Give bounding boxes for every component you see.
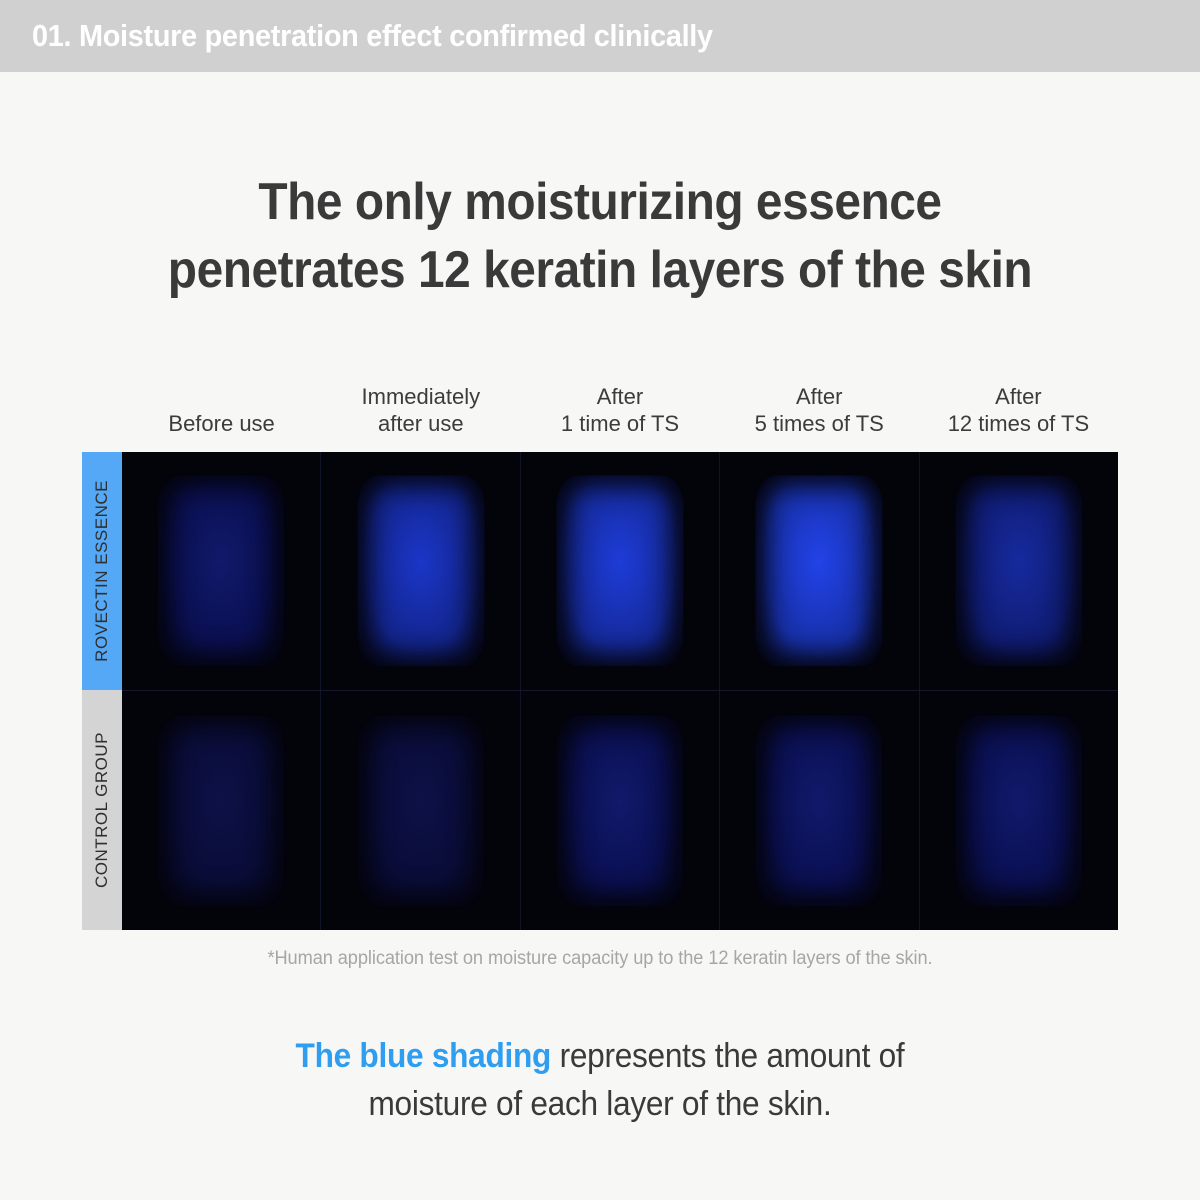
image-cell-essence-after-1-time <box>521 452 720 690</box>
fluorescence-blob <box>158 476 285 666</box>
fluorescence-blob <box>357 715 484 906</box>
column-header-after-12-times: After 12 times of TS <box>919 383 1118 437</box>
row-label-control-group: CONTROL GROUP <box>82 690 122 930</box>
image-row-rovectin-essence <box>122 452 1118 690</box>
caption-accent-text: The blue shading <box>296 1037 552 1075</box>
page-title: The only moisturizing essence penetrates… <box>0 168 1200 304</box>
speckle-layer <box>955 715 1082 906</box>
image-cell-essence-after-12-times <box>920 452 1118 690</box>
image-cell-control-after-1-time <box>521 691 720 930</box>
caption: The blue shading represents the amount o… <box>0 1032 1200 1128</box>
column-header-immediately-after-use: Immediately after use <box>321 383 520 437</box>
fluorescence-image-grid: ROVECTIN ESSENCE CONTROL GROUP <box>82 452 1118 930</box>
speckle-layer <box>158 476 285 666</box>
page-root: 01. Moisture penetration effect confirme… <box>0 0 1200 1200</box>
speckle-layer <box>955 476 1082 666</box>
speckle-layer <box>357 476 484 666</box>
speckle-layer <box>756 715 883 906</box>
fluorescence-blob <box>955 476 1082 666</box>
fluorescence-blob <box>756 715 883 906</box>
image-cell-control-after-12-times <box>920 691 1118 930</box>
fluorescence-blob <box>357 476 484 666</box>
fluorescence-blob <box>557 476 684 666</box>
speckle-layer <box>756 476 883 666</box>
fluorescence-blob <box>557 715 684 906</box>
row-label-control-group-text: CONTROL GROUP <box>92 732 112 888</box>
caption-line-1: The blue shading represents the amount o… <box>42 1032 1158 1080</box>
speckle-layer <box>357 715 484 906</box>
footnote: *Human application test on moisture capa… <box>24 948 1176 970</box>
image-panels <box>122 452 1118 930</box>
speckle-layer <box>158 715 285 906</box>
image-row-control-group <box>122 690 1118 930</box>
column-header-after-1-time: After 1 time of TS <box>520 383 719 437</box>
fluorescence-blob <box>955 715 1082 906</box>
column-header-before-use: Before use <box>122 410 321 437</box>
image-cell-essence-before-use <box>122 452 321 690</box>
headline-line-1: The only moisturizing essence <box>48 168 1152 236</box>
image-cell-control-after-5-times <box>720 691 919 930</box>
image-cell-essence-after-5-times <box>720 452 919 690</box>
row-label-rovectin-essence-text: ROVECTIN ESSENCE <box>92 480 112 662</box>
fluorescence-blob <box>756 476 883 666</box>
image-cell-control-before-use <box>122 691 321 930</box>
row-label-column: ROVECTIN ESSENCE CONTROL GROUP <box>82 452 122 930</box>
section-banner: 01. Moisture penetration effect confirme… <box>0 0 1200 72</box>
image-cell-control-immediately-after-use <box>321 691 520 930</box>
column-header-row: Before use Immediately after use After 1… <box>122 375 1118 437</box>
speckle-layer <box>557 476 684 666</box>
speckle-layer <box>557 715 684 906</box>
caption-rest-text: represents the amount of <box>551 1037 904 1075</box>
image-cell-essence-immediately-after-use <box>321 452 520 690</box>
headline-line-2: penetrates 12 keratin layers of the skin <box>48 236 1152 304</box>
banner-title: 01. Moisture penetration effect confirme… <box>32 18 713 54</box>
column-header-after-5-times: After 5 times of TS <box>720 383 919 437</box>
row-label-rovectin-essence: ROVECTIN ESSENCE <box>82 452 122 690</box>
fluorescence-blob <box>158 715 285 906</box>
caption-line-2: moisture of each layer of the skin. <box>42 1080 1158 1128</box>
